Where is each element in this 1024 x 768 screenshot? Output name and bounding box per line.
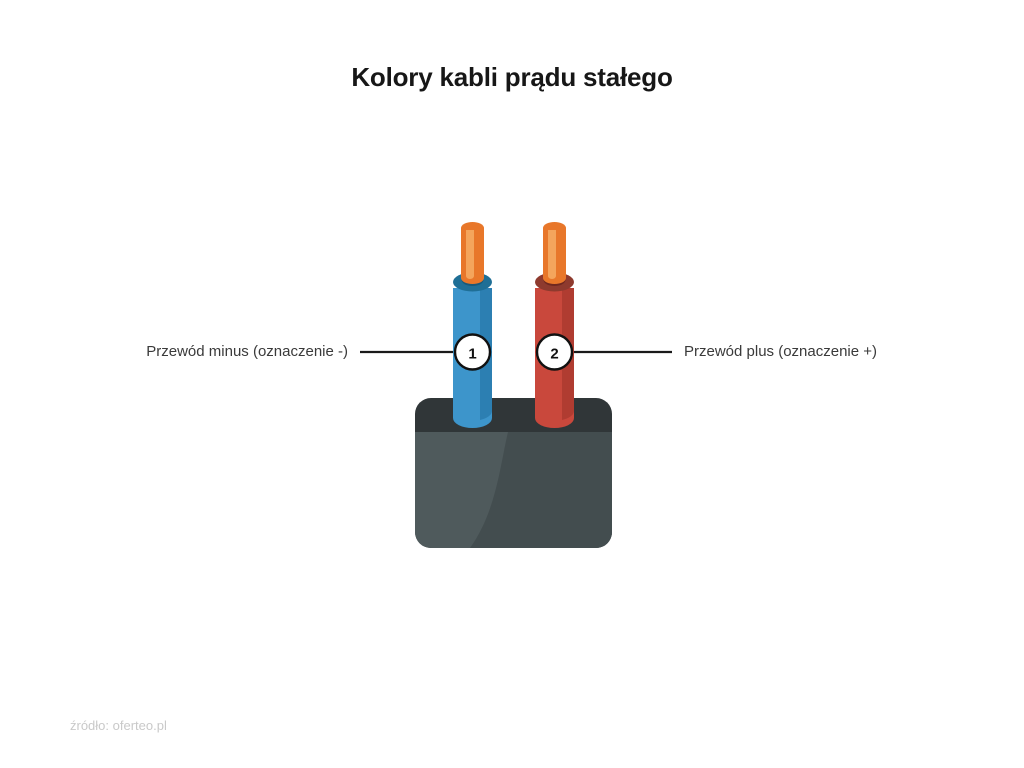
callout-label-plus: Przewód plus (oznaczenie +)	[684, 341, 1024, 363]
marker-minus-number: 1	[468, 346, 476, 363]
device-body	[415, 398, 612, 548]
callout-label-minus: Przewód minus (oznaczenie -)	[0, 341, 348, 363]
source-credit: źródło: oferteo.pl	[70, 718, 167, 733]
wire-minus-copper-highlight	[466, 230, 474, 279]
marker-minus[interactable]: 1	[455, 335, 490, 370]
wire-plus-copper-highlight	[548, 230, 556, 279]
wire-minus	[453, 222, 492, 428]
marker-plus-number: 2	[550, 346, 558, 363]
diagram-canvas: Kolory kabli prądu stałego	[0, 0, 1024, 768]
wire-plus	[535, 222, 574, 428]
marker-plus[interactable]: 2	[537, 335, 572, 370]
dc-cable-illustration: 1 2	[0, 0, 1024, 768]
